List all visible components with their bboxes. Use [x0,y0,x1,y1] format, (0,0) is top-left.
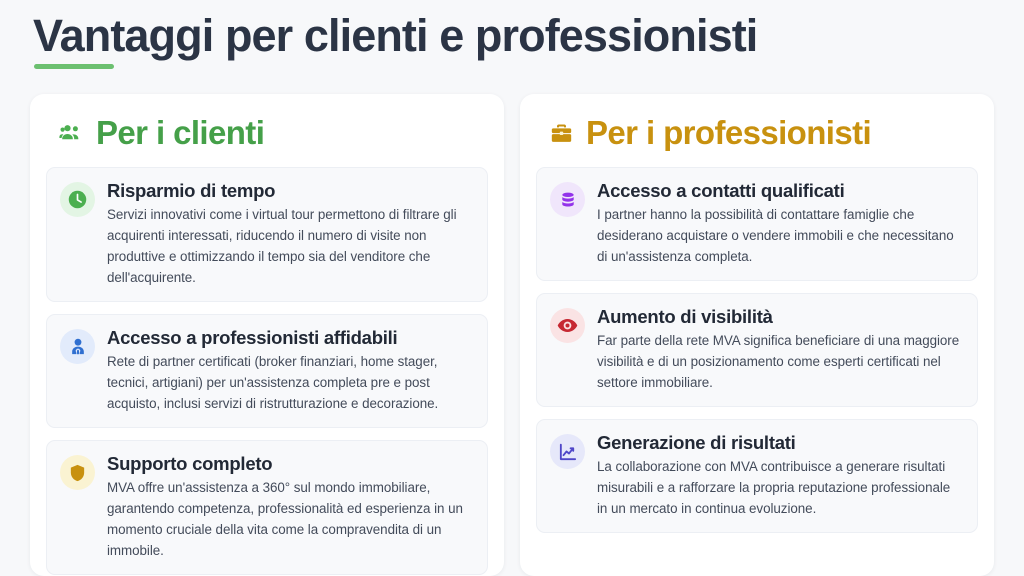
panel-professionals-card-list: Accesso a contatti qualificati I partner… [536,167,978,533]
users-group-icon [59,121,83,145]
card-title: Accesso a contatti qualificati [597,180,963,202]
panel-clients-header: Per i clienti [46,110,488,151]
chart-line-icon [550,434,585,469]
card-text: Servizi innovativi come i virtual tour p… [107,204,473,288]
card-text: I partner hanno la possibilità di contat… [597,204,963,267]
card-body: Aumento di visibilità Far parte della re… [597,306,963,393]
card-title: Risparmio di tempo [107,180,473,202]
panel-clients-title: Per i clienti [96,115,264,151]
card-title: Aumento di visibilità [597,306,963,328]
panels-container: Per i clienti Risparmio di tempo Servizi… [0,94,1024,576]
card-body: Supporto completo MVA offre un'assistenz… [107,453,473,561]
card-title: Supporto completo [107,453,473,475]
panel-professionals: Per i professionisti Accesso a contatti … [520,94,994,576]
user-tie-icon [60,329,95,364]
panel-professionals-title: Per i professionisti [586,115,871,151]
title-underline-accent [34,64,114,69]
card-text: MVA offre un'assistenza a 360° sul mondo… [107,477,473,561]
card-title: Generazione di risultati [597,432,963,454]
panel-professionals-header: Per i professionisti [536,110,978,151]
card-aumento-di-visibilita[interactable]: Aumento di visibilità Far parte della re… [536,293,978,407]
panel-clients-card-list: Risparmio di tempo Servizi innovativi co… [46,167,488,575]
slide-root: Vantaggi per clienti e professionisti Pe… [0,0,1024,576]
card-text: Far parte della rete MVA significa benef… [597,330,963,393]
clock-icon [60,182,95,217]
database-icon [550,182,585,217]
card-risparmio-di-tempo[interactable]: Risparmio di tempo Servizi innovativi co… [46,167,488,302]
card-body: Accesso a contatti qualificati I partner… [597,180,963,267]
card-text: Rete di partner certificati (broker fina… [107,351,473,414]
panel-clients: Per i clienti Risparmio di tempo Servizi… [30,94,504,576]
card-text: La collaborazione con MVA contribuisce a… [597,456,963,519]
card-accesso-a-professionisti-affidabili[interactable]: Accesso a professionisti affidabili Rete… [46,314,488,428]
card-generazione-di-risultati[interactable]: Generazione di risultati La collaborazio… [536,419,978,533]
card-body: Generazione di risultati La collaborazio… [597,432,963,519]
eye-icon [550,308,585,343]
shield-icon [60,455,95,490]
card-body: Risparmio di tempo Servizi innovativi co… [107,180,473,288]
card-supporto-completo[interactable]: Supporto completo MVA offre un'assistenz… [46,440,488,575]
card-accesso-a-contatti-qualificati[interactable]: Accesso a contatti qualificati I partner… [536,167,978,281]
card-body: Accesso a professionisti affidabili Rete… [107,327,473,414]
card-title: Accesso a professionisti affidabili [107,327,473,349]
briefcase-icon [549,121,573,145]
page-title: Vantaggi per clienti e professionisti [33,10,757,62]
